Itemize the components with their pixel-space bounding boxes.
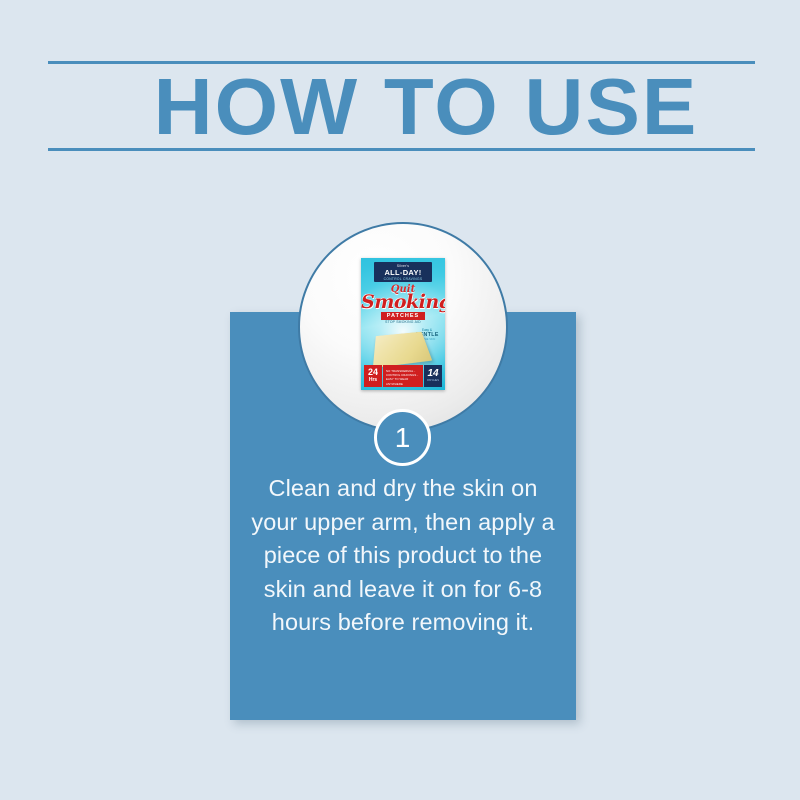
- page-title: HOW TO USE: [100, 63, 753, 151]
- header: HOW TO USE: [48, 55, 755, 155]
- package-name-banner: PATCHES: [381, 312, 425, 320]
- package-headline: ALL-DAY!: [374, 269, 432, 277]
- package-name-main: Smoking: [361, 291, 445, 313]
- package-claims: NO TRANSDERMAL - CONTROL CRAVINGS - EASY…: [383, 365, 423, 387]
- product-package: Silver's ALL-DAY! CONTROL CRAVINGS Quit …: [361, 258, 445, 390]
- package-name-sub: STOP SMOKING AID: [361, 320, 445, 324]
- step-description: Clean and dry the skin on your upper arm…: [248, 472, 558, 640]
- product-image-circle: Silver's ALL-DAY! CONTROL CRAVINGS Quit …: [298, 222, 508, 432]
- count-badge: 14 PATCHES: [424, 365, 442, 387]
- infographic-canvas: HOW TO USE Silver's ALL-DAY! CONTROL CRA…: [0, 0, 800, 800]
- duration-badge: 24 Hrs: [364, 365, 382, 387]
- package-bottom-bar: 24 Hrs NO TRANSDERMAL - CONTROL CRAVINGS…: [364, 365, 442, 387]
- step-number-badge: 1: [374, 409, 431, 466]
- package-brand: Silver's: [374, 262, 432, 269]
- count-unit: PATCHES: [424, 379, 442, 383]
- duration-unit: Hrs: [364, 377, 382, 383]
- title-rule-bottom: [48, 148, 755, 151]
- duration-number: 24: [364, 365, 382, 377]
- package-subheadline: CONTROL CRAVINGS: [374, 277, 432, 281]
- package-top-banner: Silver's ALL-DAY! CONTROL CRAVINGS: [374, 262, 432, 282]
- count-number: 14: [424, 365, 442, 379]
